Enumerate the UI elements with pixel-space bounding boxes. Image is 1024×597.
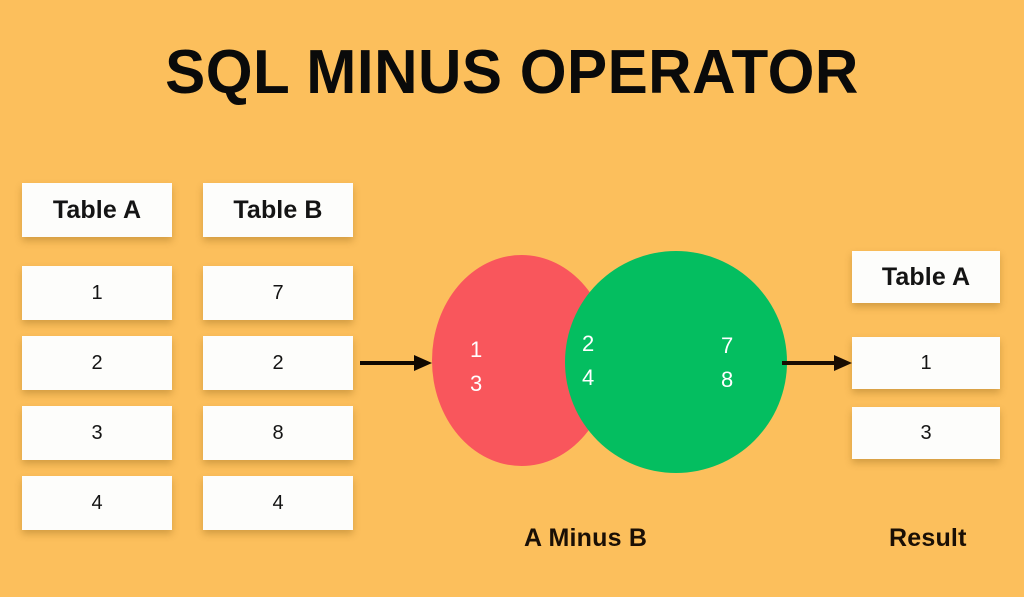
- result-table-row: 1: [852, 337, 1000, 389]
- result-table-row: 3: [852, 407, 1000, 459]
- table-a-row: 2: [22, 336, 172, 390]
- arrow-right-icon: [360, 352, 432, 374]
- venn-circle-table-b: [565, 251, 787, 473]
- table-a-row: 4: [22, 476, 172, 530]
- diagram-canvas: SQL MINUS OPERATOR Table A 1 2 3 4 Table…: [0, 0, 1024, 597]
- result-caption: Result: [889, 524, 967, 553]
- table-b-row: 7: [203, 266, 353, 320]
- table-b-header: Table B: [203, 183, 353, 237]
- table-b-row: 4: [203, 476, 353, 530]
- venn-label-intersection: 2 4: [582, 327, 594, 395]
- venn-diagram: 1 3 2 4 7 8: [425, 245, 785, 485]
- venn-label-a-only: 1 3: [470, 333, 482, 401]
- table-b-row: 8: [203, 406, 353, 460]
- table-a-row: 1: [22, 266, 172, 320]
- venn-label-b-only: 7 8: [721, 329, 733, 397]
- result-table-header: Table A: [852, 251, 1000, 303]
- table-a-row: 3: [22, 406, 172, 460]
- page-title: SQL MINUS OPERATOR: [15, 42, 1008, 104]
- table-b-row: 2: [203, 336, 353, 390]
- table-a-header: Table A: [22, 183, 172, 237]
- venn-caption: A Minus B: [524, 524, 647, 553]
- arrow-right-icon: [782, 352, 852, 374]
